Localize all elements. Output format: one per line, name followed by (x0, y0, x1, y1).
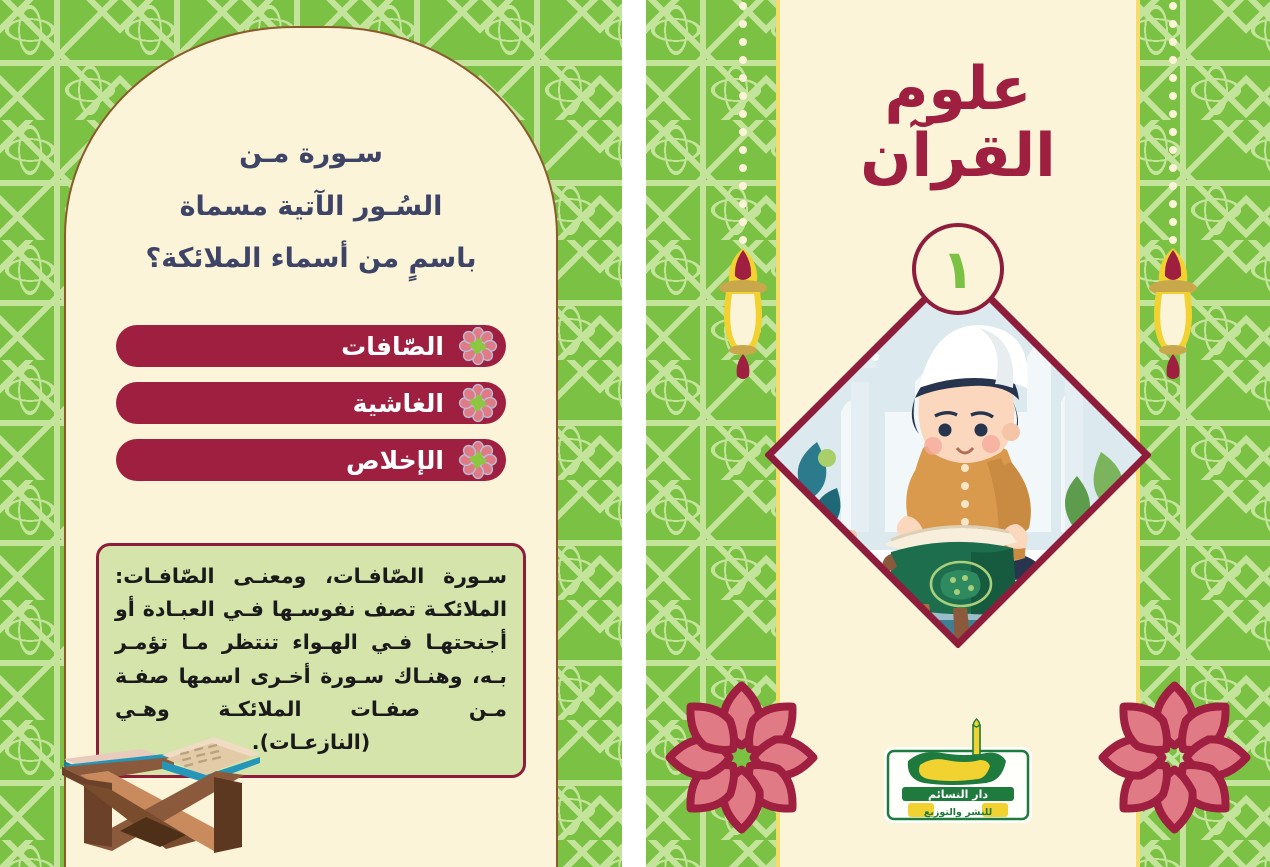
question-card: سـورة مـن السُـور الآتية مسماة باسمٍ من … (0, 0, 622, 867)
number-badge: ١ (912, 223, 1004, 315)
rosette-icon (458, 440, 498, 480)
lantern-icon (1140, 0, 1206, 400)
question-line-3: باسمٍ من أسماء الملائكة؟ (68, 233, 554, 286)
logo-name: دار النسائم (928, 788, 988, 801)
answer-option-1-label: الصّافات (116, 332, 444, 361)
answer-option-2[interactable]: الغاشية (116, 382, 506, 424)
publisher-logo-icon: دار النسائم للنشر والتوزيع (878, 717, 1038, 829)
question-line-2: السُـور الآتية مسماة (68, 181, 554, 234)
geometric-rosette-icon (654, 670, 829, 845)
rosette-icon (458, 326, 498, 366)
cover-card: علوم القرآن ١ (646, 0, 1270, 867)
question-line-1: سـورة مـن (68, 128, 554, 181)
answer-option-3-label: الإخلاص (116, 446, 444, 475)
worksheet-spread: سـورة مـن السُـور الآتية مسماة باسمٍ من … (0, 0, 1270, 867)
question-text: سـورة مـن السُـور الآتية مسماة باسمٍ من … (68, 128, 554, 286)
rosette-icon (458, 383, 498, 423)
boy-reading-quran-icon (765, 262, 1151, 648)
answer-option-3[interactable]: الإخلاص (116, 439, 506, 481)
answer-options: الصّافات (116, 325, 506, 496)
open-book-on-rehal-icon (46, 731, 276, 859)
answer-option-1[interactable]: الصّافات (116, 325, 506, 367)
answer-option-2-label: الغاشية (116, 389, 444, 418)
lantern-icon (710, 0, 776, 400)
logo-tagline: للنشر والتوزيع (924, 807, 992, 818)
geometric-rosette-icon (1087, 670, 1262, 845)
